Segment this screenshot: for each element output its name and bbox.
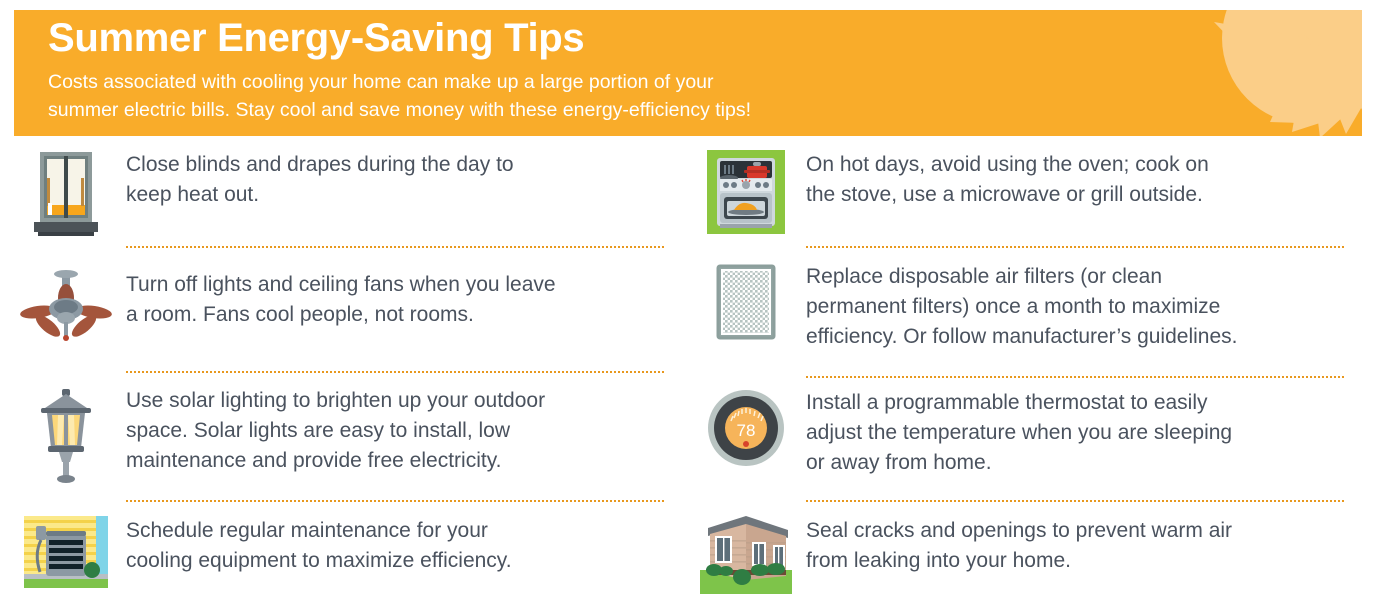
tip-line: adjust the temperature when you are slee…: [806, 418, 1232, 448]
page-title: Summer Energy-Saving Tips: [48, 16, 584, 61]
tip-text: Use solar lighting to brighten up your o…: [114, 384, 545, 476]
tip-line: from leaking into your home.: [806, 546, 1232, 576]
air-filter-icon: [698, 260, 794, 346]
header-subtitle-line: Costs associated with cooling your home …: [48, 68, 1008, 96]
tip-item: Schedule regular maintenance for your co…: [18, 514, 512, 610]
tip-line: Install a programmable thermostat to eas…: [806, 388, 1232, 418]
tip-item: Turn off lights and ceiling fans when yo…: [18, 268, 556, 364]
tip-line: efficiency. Or follow manufacturer’s gui…: [806, 322, 1237, 352]
tip-text: Close blinds and drapes during the day t…: [114, 148, 514, 210]
tips-column-right: On hot days, avoid using the oven; cook …: [698, 142, 1358, 608]
tip-line: Close blinds and drapes during the day t…: [126, 150, 514, 180]
header-banner: Summer Energy-Saving Tips Costs associat…: [14, 10, 1362, 136]
tip-line: or away from home.: [806, 448, 1232, 478]
tip-text: On hot days, avoid using the oven; cook …: [794, 148, 1209, 210]
tip-line: Schedule regular maintenance for your: [126, 516, 512, 546]
tip-divider: [126, 500, 664, 502]
header-subtitle-line: summer electric bills. Stay cool and sav…: [48, 96, 1008, 124]
tips-column-left: Close blinds and drapes during the day t…: [18, 142, 678, 608]
tip-divider: [126, 371, 664, 373]
tip-item: On hot days, avoid using the oven; cook …: [698, 148, 1209, 244]
tip-line: cooling equipment to maximize efficiency…: [126, 546, 512, 576]
tip-line: the stove, use a microwave or grill outs…: [806, 180, 1209, 210]
tip-item: Replace disposable air filters (or clean…: [698, 260, 1237, 370]
thermostat-temperature: 78: [737, 421, 756, 440]
solar-lamp-post-icon: [18, 384, 114, 484]
tip-text: Replace disposable air filters (or clean…: [794, 260, 1237, 352]
tip-line: maintenance and provide free electricity…: [126, 446, 545, 476]
tip-text: Schedule regular maintenance for your co…: [114, 514, 512, 576]
tip-text: Turn off lights and ceiling fans when yo…: [114, 268, 556, 330]
tip-line: On hot days, avoid using the oven; cook …: [806, 150, 1209, 180]
tip-line: permanent filters) once a month to maxim…: [806, 292, 1237, 322]
header-subtitle: Costs associated with cooling your home …: [48, 68, 1008, 124]
thermostat-icon: 78: [698, 386, 794, 470]
tip-divider: [806, 500, 1344, 502]
ceiling-fan-icon: [18, 268, 114, 348]
tip-line: Replace disposable air filters (or clean: [806, 262, 1237, 292]
tip-line: Use solar lighting to brighten up your o…: [126, 386, 545, 416]
tip-divider: [126, 246, 664, 248]
air-conditioner-unit-icon: [18, 514, 114, 594]
tip-item: Use solar lighting to brighten up your o…: [18, 384, 545, 494]
tip-item: 78 Install a programmable thermostat to …: [698, 386, 1232, 496]
tip-line: Turn off lights and ceiling fans when yo…: [126, 270, 556, 300]
window-blinds-icon: [18, 148, 114, 240]
sun-burst-icon: [1138, 10, 1362, 136]
tip-item: Close blinds and drapes during the day t…: [18, 148, 514, 244]
tips-container: Close blinds and drapes during the day t…: [0, 142, 1378, 608]
tip-divider: [806, 376, 1344, 378]
tip-text: Seal cracks and openings to prevent warm…: [794, 514, 1232, 576]
tip-text: Install a programmable thermostat to eas…: [794, 386, 1232, 478]
oven-stove-icon: [698, 148, 794, 240]
tip-line: space. Solar lights are easy to install,…: [126, 416, 545, 446]
tip-divider: [806, 246, 1344, 248]
tip-line: a room. Fans cool people, not rooms.: [126, 300, 556, 330]
tip-line: keep heat out.: [126, 180, 514, 210]
tip-line: Seal cracks and openings to prevent warm…: [806, 516, 1232, 546]
tip-item: Seal cracks and openings to prevent warm…: [698, 514, 1232, 610]
house-exterior-icon: [698, 514, 794, 594]
